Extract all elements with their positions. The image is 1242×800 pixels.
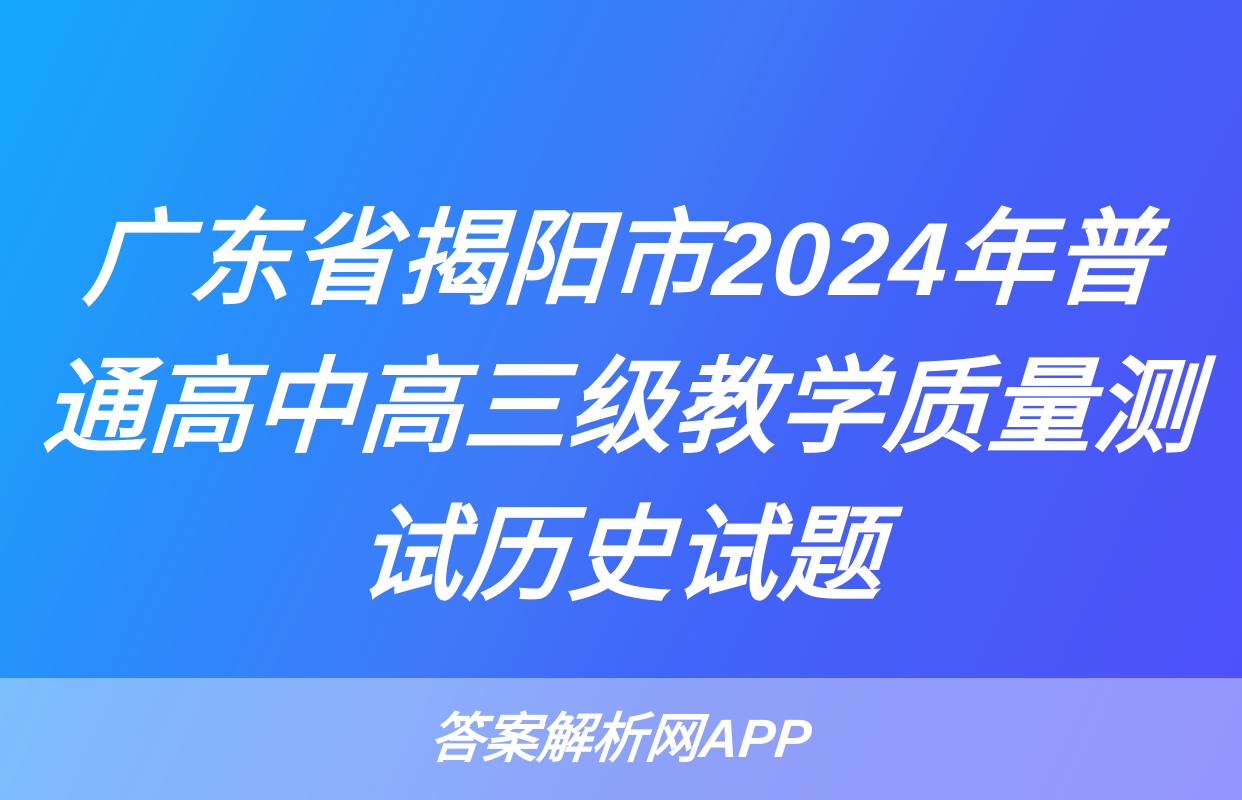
page-title: 广东省揭阳市2024年普 通高中高三级教学质量测 试历史试题	[0, 186, 1242, 630]
title-card-banner: 广东省揭阳市2024年普 通高中高三级教学质量测 试历史试题 答案解析网APP	[0, 0, 1242, 800]
title-line-1: 广东省揭阳市2024年普	[36, 186, 1206, 334]
brand-watermark-label: 答案解析网APP	[427, 709, 814, 769]
title-line-2: 通高中高三级教学质量测	[36, 334, 1206, 482]
footer-watermark-band: 答案解析网APP	[0, 678, 1242, 800]
title-line-3: 试历史试题	[36, 482, 1206, 630]
